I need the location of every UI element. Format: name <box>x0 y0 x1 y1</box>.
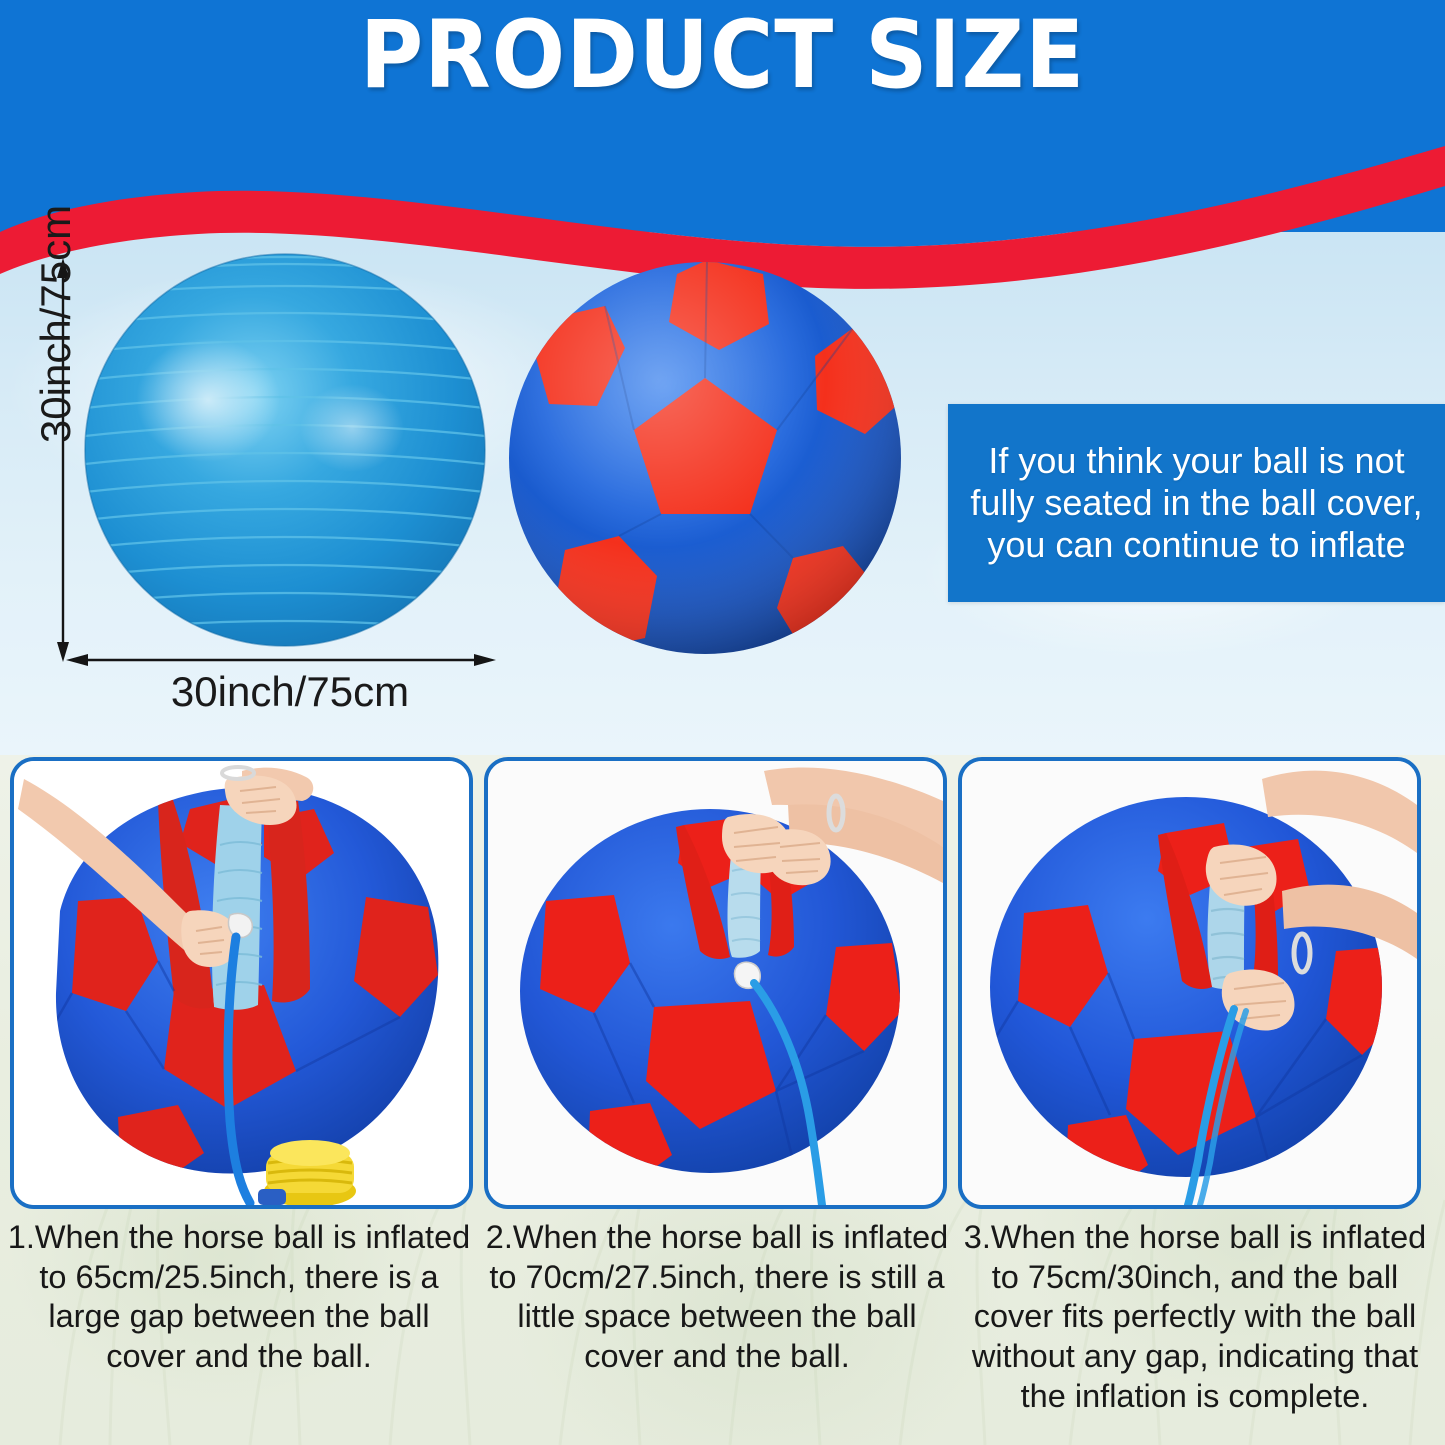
step-captions: 1.When the horse ball is inflated to 65c… <box>0 1218 1445 1445</box>
photo-loose-cover-with-foot-pump <box>14 761 469 1205</box>
height-dimension-label: 30inch/75cm <box>32 164 80 484</box>
product-size-infographic: PRODUCT SIZE Our ball covers are made of… <box>0 0 1445 1445</box>
step-panel-2 <box>484 757 947 1209</box>
inflate-callout-box: If you think your ball is not fully seat… <box>948 404 1445 602</box>
callout-text: If you think your ball is not fully seat… <box>948 440 1445 565</box>
photo-fully-inflated-ball-fits-cover <box>962 761 1417 1205</box>
step-panel-1 <box>10 757 473 1209</box>
step-caption-2: 2.When the horse ball is inflated to 70c… <box>478 1218 956 1445</box>
width-dimension-label: 30inch/75cm <box>80 668 500 716</box>
photo-partly-inflated-ball-with-hose <box>488 761 943 1205</box>
blue-red-soccer-ball-cover <box>505 258 905 658</box>
horizontal-dimension-arrow <box>66 652 496 668</box>
step-panel-3 <box>958 757 1421 1209</box>
step-photo-panels <box>0 757 1445 1212</box>
step-caption-3: 3.When the horse ball is inflated to 75c… <box>956 1218 1434 1445</box>
blue-exercise-ball <box>80 250 490 650</box>
step-caption-1: 1.When the horse ball is inflated to 65c… <box>0 1218 478 1445</box>
page-title: PRODUCT SIZE <box>58 8 1387 104</box>
